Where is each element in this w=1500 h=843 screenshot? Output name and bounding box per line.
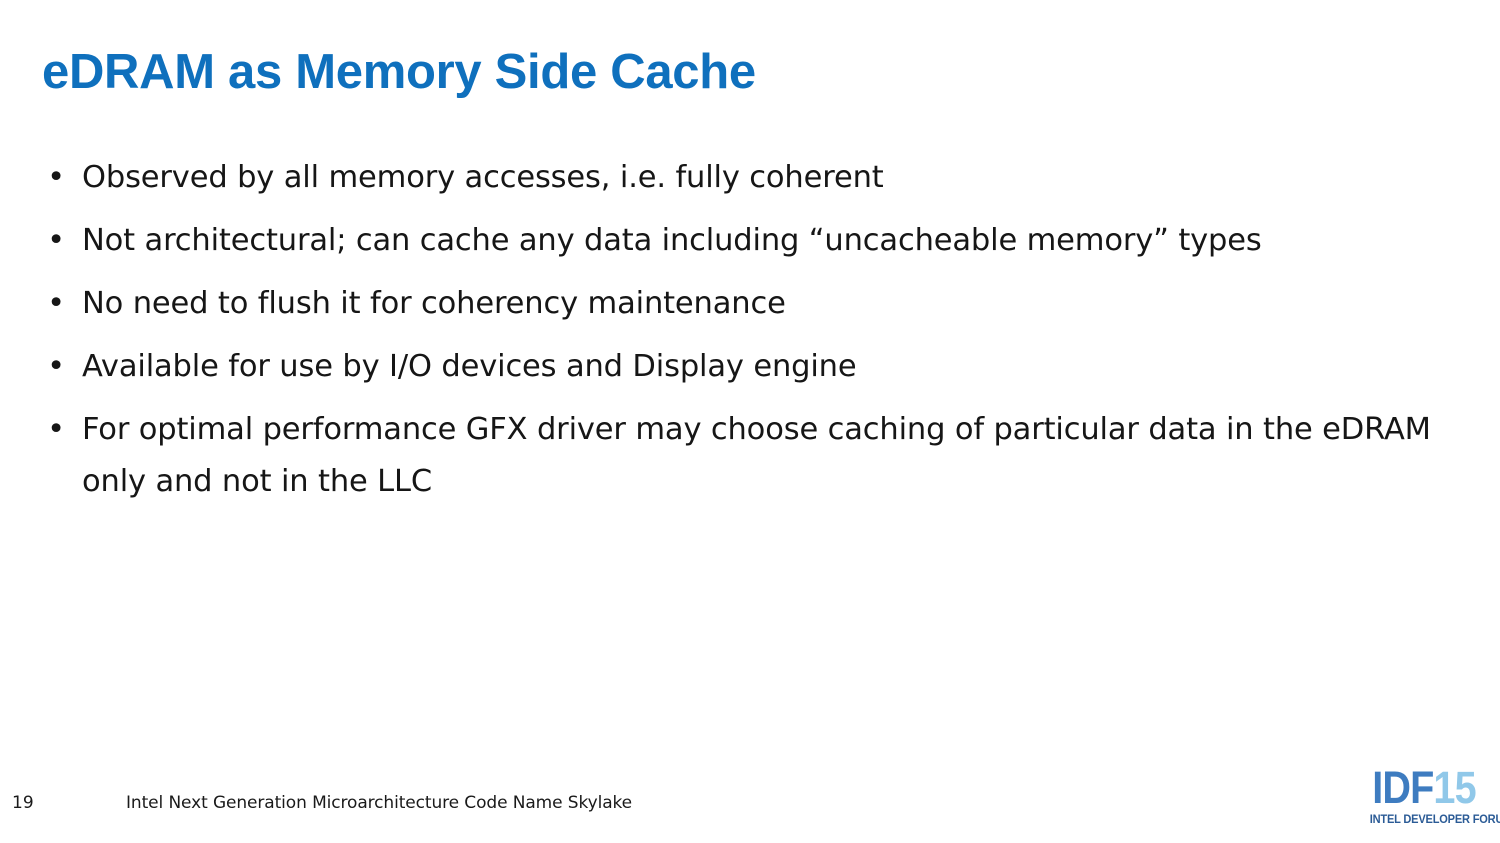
idf-wordmark: IDF15 <box>1372 765 1476 811</box>
bullet-dot-icon: • <box>47 215 65 267</box>
list-item: • Not architectural; can cache any data … <box>42 215 1442 267</box>
list-item-label: Available for use by I/O devices and Dis… <box>82 341 1442 393</box>
bullet-dot-icon: • <box>47 152 65 204</box>
list-item-label: For optimal performance GFX driver may c… <box>82 404 1442 508</box>
bullet-dot-icon: • <box>47 341 65 393</box>
page-title: eDRAM as Memory Side Cache <box>42 42 1442 102</box>
bullet-dot-icon: • <box>47 404 65 456</box>
footer-deck-title: Intel Next Generation Microarchitecture … <box>126 792 632 814</box>
slide-canvas: eDRAM as Memory Side Cache • Observed by… <box>0 0 1500 843</box>
list-item-label: No need to flush it for coherency mainte… <box>82 278 1442 330</box>
list-item-label: Observed by all memory accesses, i.e. fu… <box>82 152 1442 204</box>
list-item: • Observed by all memory accesses, i.e. … <box>42 152 1442 204</box>
list-item: • For optimal performance GFX driver may… <box>42 404 1442 508</box>
bullet-dot-icon: • <box>47 278 65 330</box>
idf-year-text: 15 <box>1433 762 1475 813</box>
idf-mark-text: IDF <box>1372 762 1433 813</box>
slide-footer: 19 Intel Next Generation Microarchitectu… <box>0 783 1500 843</box>
list-item: • Available for use by I/O devices and D… <box>42 341 1442 393</box>
bullet-list: • Observed by all memory accesses, i.e. … <box>42 152 1442 519</box>
list-item: • No need to flush it for coherency main… <box>42 278 1442 330</box>
list-item-label: Not architectural; can cache any data in… <box>82 215 1442 267</box>
idf-tagline: INTEL DEVELOPER FORUM <box>1370 812 1479 826</box>
page-number: 19 <box>12 792 34 814</box>
idf15-logo: IDF15 INTEL DEVELOPER FORUM <box>1365 765 1483 833</box>
